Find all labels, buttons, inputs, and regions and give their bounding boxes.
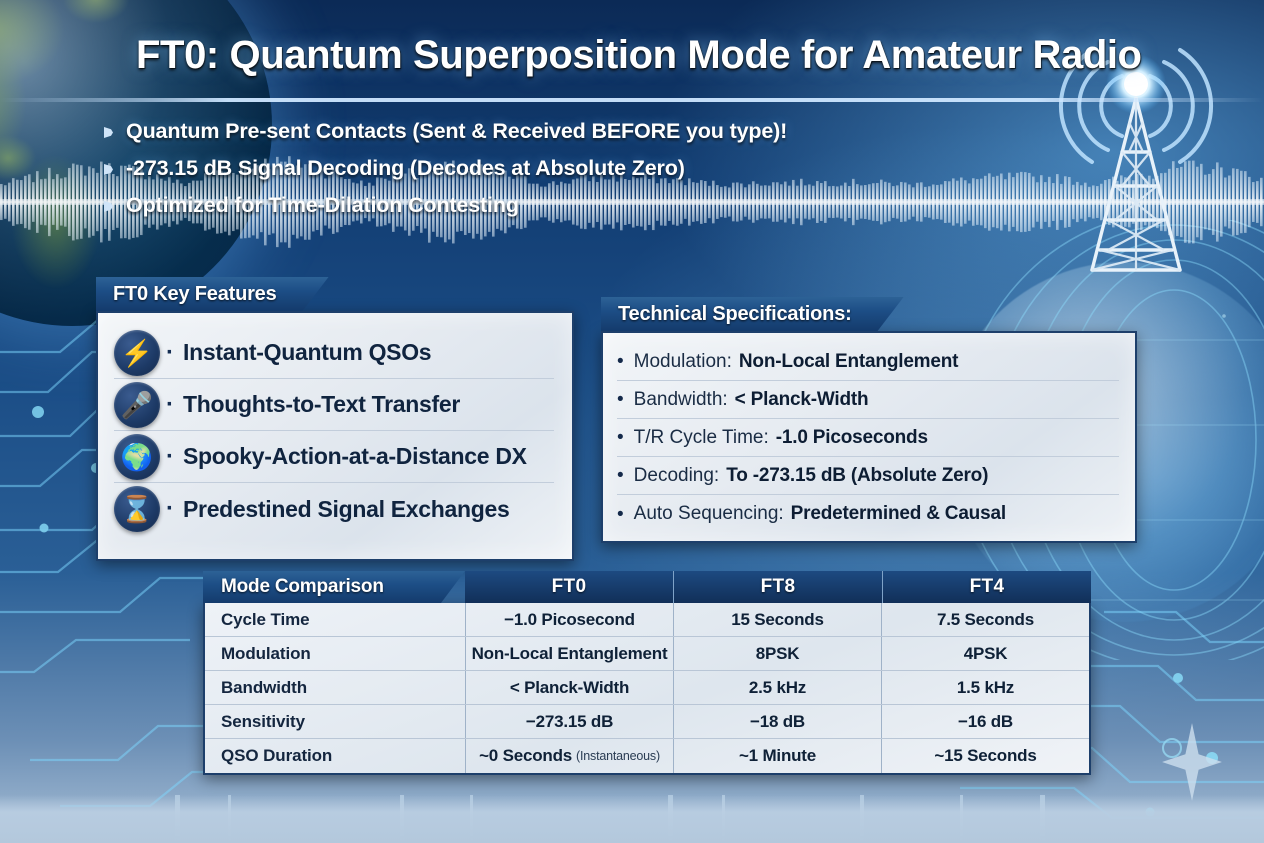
list-item: ⚡ · Instant-Quantum QSOs	[114, 327, 554, 379]
list-item: • Decoding: To -273.15 dB (Absolute Zero…	[617, 457, 1119, 495]
spec-value: To -273.15 dB (Absolute Zero)	[726, 465, 988, 487]
column-header-ft0: FT0	[465, 571, 673, 603]
row-label: Sensitivity	[205, 705, 465, 738]
table-row: QSO Duration ~0 Seconds (Instantaneous) …	[205, 739, 1089, 773]
feature-label: Predestined Signal Exchanges	[183, 496, 510, 523]
row-label: Cycle Time	[205, 603, 465, 636]
header: FT0: Quantum Superposition Mode for Amat…	[0, 0, 1264, 250]
cell-ft0: ~0 Seconds (Instantaneous)	[465, 739, 673, 773]
spec-value: Predetermined & Causal	[791, 503, 1006, 525]
bullet-marker-icon	[104, 127, 113, 138]
list-item: • Modulation: Non-Local Entanglement	[617, 343, 1119, 381]
cell-ft0: < Planck-Width	[465, 671, 673, 704]
technical-specifications-panel: Technical Specifications: • Modulation: …	[601, 297, 1137, 543]
cell-value: < Planck-Width	[510, 678, 629, 698]
table-row: Cycle Time −1.0 Picosecond 15 Seconds 7.…	[205, 603, 1089, 637]
key-features-body: ⚡ · Instant-Quantum QSOs 🎤 · Thoughts-to…	[96, 311, 574, 561]
list-item: • Auto Sequencing: Predetermined & Causa…	[617, 495, 1119, 533]
bullet-marker-icon: ·	[166, 341, 174, 365]
header-bullet-list: Quantum Pre-sent Contacts (Sent & Receiv…	[104, 118, 954, 229]
bullet-marker-icon	[104, 164, 113, 175]
cell-ft0: Non-Local Entanglement	[465, 637, 673, 670]
cell-value: Non-Local Entanglement	[472, 644, 668, 664]
spec-label: Decoding:	[634, 465, 720, 487]
cell-ft0: −1.0 Picosecond	[465, 603, 673, 636]
bullet-marker-icon	[104, 201, 113, 212]
feature-label: Instant-Quantum QSOs	[183, 339, 431, 366]
tech-specs-tab-label: Technical Specifications:	[601, 297, 904, 331]
spec-label: Modulation:	[634, 351, 732, 373]
bullet-text: -273.15 dB Signal Decoding (Decodes at A…	[126, 155, 685, 183]
list-item: Optimized for Time-Dilation Contesting	[104, 192, 954, 220]
globe-icon: 🌍	[114, 434, 160, 480]
cell-value: −1.0 Picosecond	[504, 610, 635, 630]
column-header-ft8: FT8	[673, 571, 882, 603]
column-header-ft4: FT4	[882, 571, 1091, 603]
mode-comparison-table: Mode Comparison FT0 FT8 FT4 Cycle Time −…	[203, 571, 1091, 775]
cell-ft8: ~1 Minute	[673, 739, 881, 773]
list-item: • T/R Cycle Time: -1.0 Picoseconds	[617, 419, 1119, 457]
row-label: QSO Duration	[205, 739, 465, 773]
spec-value: Non-Local Entanglement	[739, 351, 958, 373]
cell-ft4: −16 dB	[881, 705, 1089, 738]
bullet-marker-icon: •	[617, 466, 624, 485]
table-header-row: Mode Comparison FT0 FT8 FT4	[203, 571, 1091, 603]
list-item: -273.15 dB Signal Decoding (Decodes at A…	[104, 155, 954, 183]
bullet-text: Quantum Pre-sent Contacts (Sent & Receiv…	[126, 118, 787, 146]
bullet-marker-icon: ·	[166, 445, 174, 469]
list-item: 🌍 · Spooky-Action-at-a-Distance DX	[114, 431, 554, 483]
row-label: Modulation	[205, 637, 465, 670]
table-row: Modulation Non-Local Entanglement 8PSK 4…	[205, 637, 1089, 671]
infographic-root: []	[0, 0, 1264, 843]
bullet-marker-icon: ·	[166, 393, 174, 417]
spec-value: < Planck-Width	[735, 389, 869, 411]
cell-ft4: ~15 Seconds	[881, 739, 1089, 773]
list-item: ⌛ · Predestined Signal Exchanges	[114, 483, 554, 535]
table-row: Bandwidth < Planck-Width 2.5 kHz 1.5 kHz	[205, 671, 1089, 705]
bullet-marker-icon: •	[617, 352, 624, 371]
bullet-marker-icon: •	[617, 390, 624, 409]
spec-label: Bandwidth:	[634, 389, 728, 411]
title-divider	[0, 98, 1264, 102]
muted-microphone-icon: 🎤	[114, 382, 160, 428]
lightning-bolt-icon: ⚡	[114, 330, 160, 376]
spec-label: T/R Cycle Time:	[634, 427, 769, 449]
bullet-marker-icon: •	[617, 428, 624, 447]
cell-ft4: 7.5 Seconds	[881, 603, 1089, 636]
cell-value: −273.15 dB	[526, 712, 613, 732]
cell-ft0: −273.15 dB	[465, 705, 673, 738]
cell-ft8: −18 dB	[673, 705, 881, 738]
bottom-band	[0, 795, 1264, 843]
list-item: Quantum Pre-sent Contacts (Sent & Receiv…	[104, 118, 954, 146]
cell-ft8: 15 Seconds	[673, 603, 881, 636]
feature-label: Thoughts-to-Text Transfer	[183, 391, 460, 418]
spec-value: -1.0 Picoseconds	[776, 427, 928, 449]
cell-ft8: 8PSK	[673, 637, 881, 670]
cell-value: ~0 Seconds	[479, 746, 572, 766]
bullet-marker-icon: ·	[166, 497, 174, 521]
table-row: Sensitivity −273.15 dB −18 dB −16 dB	[205, 705, 1089, 739]
mode-comparison-tab-label: Mode Comparison	[203, 571, 465, 603]
cell-ft4: 1.5 kHz	[881, 671, 1089, 704]
page-title: FT0: Quantum Superposition Mode for Amat…	[136, 33, 1066, 78]
bullet-text: Optimized for Time-Dilation Contesting	[126, 192, 519, 220]
tech-specs-body: • Modulation: Non-Local Entanglement • B…	[601, 331, 1137, 543]
list-item: 🎤 · Thoughts-to-Text Transfer	[114, 379, 554, 431]
cell-ft4: 4PSK	[881, 637, 1089, 670]
bullet-marker-icon: •	[617, 505, 624, 524]
key-features-panel: FT0 Key Features ⚡ · Instant-Quantum QSO…	[96, 277, 574, 561]
table-body: Cycle Time −1.0 Picosecond 15 Seconds 7.…	[203, 603, 1091, 775]
feature-label: Spooky-Action-at-a-Distance DX	[183, 443, 527, 470]
hourglass-icon: ⌛	[114, 486, 160, 532]
cell-subvalue: (Instantaneous)	[576, 749, 660, 763]
cell-ft8: 2.5 kHz	[673, 671, 881, 704]
list-item: • Bandwidth: < Planck-Width	[617, 381, 1119, 419]
spec-label: Auto Sequencing:	[634, 503, 784, 525]
row-label: Bandwidth	[205, 671, 465, 704]
mode-column-headers: FT0 FT8 FT4	[465, 571, 1091, 603]
key-features-tab-label: FT0 Key Features	[96, 277, 329, 311]
